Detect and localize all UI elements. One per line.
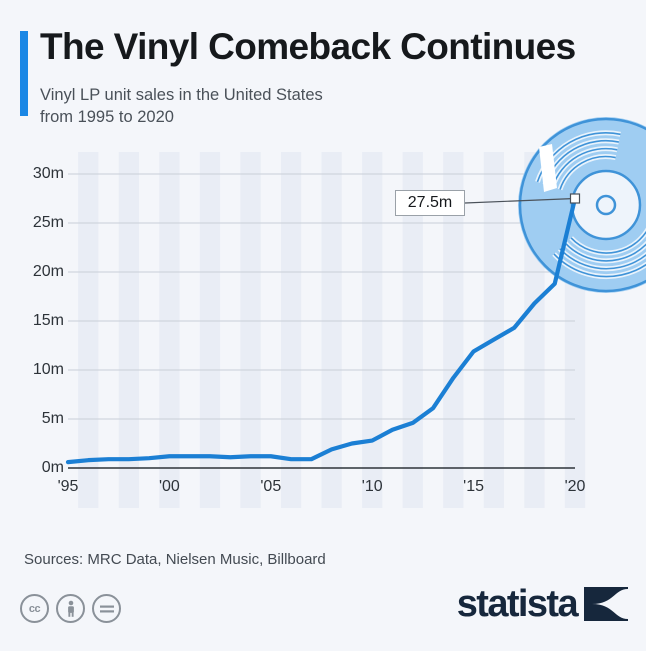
data-label-callout: 27.5m xyxy=(395,190,465,216)
chart-svg xyxy=(0,0,646,646)
y-axis-tick-label: 5m xyxy=(18,410,64,428)
y-axis-tick-label: 20m xyxy=(18,263,64,281)
x-axis-tick-label: '00 xyxy=(159,478,180,496)
x-axis-tick-label: '20 xyxy=(565,478,586,496)
x-axis-tick-label: '10 xyxy=(362,478,383,496)
y-axis-tick-label: 10m xyxy=(18,361,64,379)
sources-text: Sources: MRC Data, Nielsen Music, Billbo… xyxy=(24,551,326,568)
y-axis-tick-label: 0m xyxy=(18,459,64,477)
line-chart: 0m5m10m15m20m25m30m'95'00'05'10'15'20 xyxy=(0,0,646,646)
statista-logo: statista xyxy=(457,585,628,623)
statista-logo-mark xyxy=(584,587,628,621)
x-axis-tick-label: '95 xyxy=(58,478,79,496)
no-derivatives-equals-icon xyxy=(92,594,121,623)
cc-icon: cc xyxy=(20,594,49,623)
infographic-canvas: The Vinyl Comeback Continues Vinyl LP un… xyxy=(0,0,646,646)
y-axis-tick-label: 25m xyxy=(18,214,64,232)
y-axis-tick-label: 30m xyxy=(18,165,64,183)
y-axis-tick-label: 15m xyxy=(18,312,64,330)
attribution-person-icon xyxy=(56,594,85,623)
statista-wordmark: statista xyxy=(457,585,577,623)
license-icons: cc xyxy=(20,594,121,623)
data-point-marker xyxy=(571,194,580,203)
x-axis-tick-label: '15 xyxy=(463,478,484,496)
x-axis-tick-label: '05 xyxy=(260,478,281,496)
